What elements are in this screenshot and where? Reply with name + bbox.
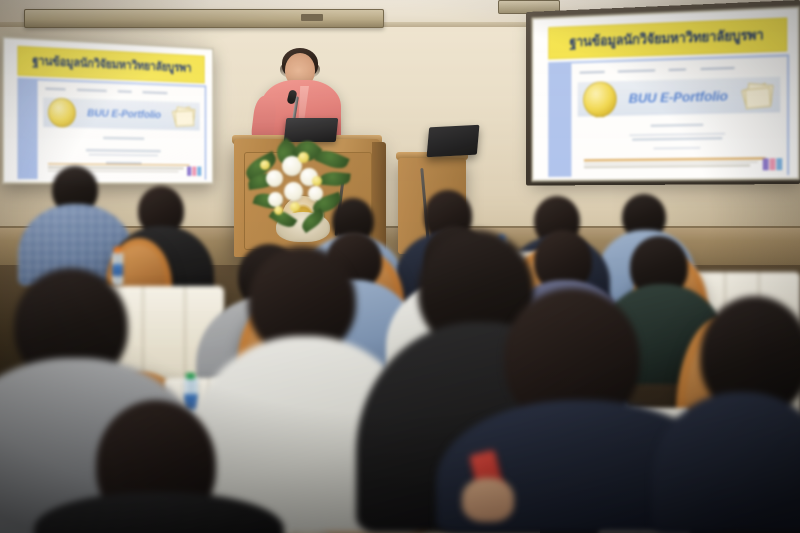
slide-banner-right: BUU E-Portfolio [577, 77, 780, 117]
slide-nav-left [45, 86, 199, 98]
projector-screen-housing-left [24, 9, 384, 28]
slide-page-left: BUU E-Portfolio [38, 80, 205, 179]
left-projection-screen: ฐานข้อมูลนักวิจัยมหาวิทยาลัยบูรพา BUU E-… [2, 36, 214, 184]
slide-right: ฐานข้อมูลนักวิจัยมหาวิทยาลัยบูรพา BUU E-… [533, 8, 798, 180]
lectern-side [372, 142, 386, 254]
slide-banner-left: BUU E-Portfolio [43, 97, 200, 130]
documents-icon [740, 80, 774, 110]
slide-corner-logo-right [762, 158, 782, 170]
slide-nav-right [580, 63, 779, 77]
banner-text-right: BUU E-Portfolio [617, 88, 741, 107]
slide-frame-right: BUU E-Portfolio [548, 54, 789, 176]
slide-title-right: ฐานข้อมูลนักวิจัยมหาวิทยาลัยบูรพา [548, 17, 787, 59]
hand [462, 478, 514, 522]
buu-seal-icon [583, 81, 616, 117]
slide-left: ฐานข้อมูลนักวิจัยมหาวิทยาลัยบูรพา BUU E-… [4, 38, 212, 182]
slide-title-left: ฐานข้อมูลนักวิจัยมหาวิทยาลัยบูรพา [17, 46, 204, 83]
slide-frame-left: BUU E-Portfolio [17, 78, 206, 180]
right-projection-screen: ฐานข้อมูลนักวิจัยมหาวิทยาลัยบูรพา BUU E-… [531, 6, 800, 182]
slide-footnote-right [584, 155, 774, 169]
documents-icon [172, 105, 196, 128]
seminar-room-photo: ฐานข้อมูลนักวิจัยมหาวิทยาลัยบูรพา BUU E-… [0, 0, 800, 533]
lectern-monitor [284, 118, 339, 142]
slide-page-right: BUU E-Portfolio [571, 57, 787, 177]
water-bottle [112, 252, 123, 286]
buu-seal-icon [48, 98, 76, 128]
slide-corner-logo-left [187, 167, 201, 176]
banner-text-left: BUU E-Portfolio [76, 107, 172, 121]
laptop [427, 125, 480, 158]
slide-body-lines-right [600, 120, 755, 153]
housing-vent-icon [301, 14, 323, 21]
